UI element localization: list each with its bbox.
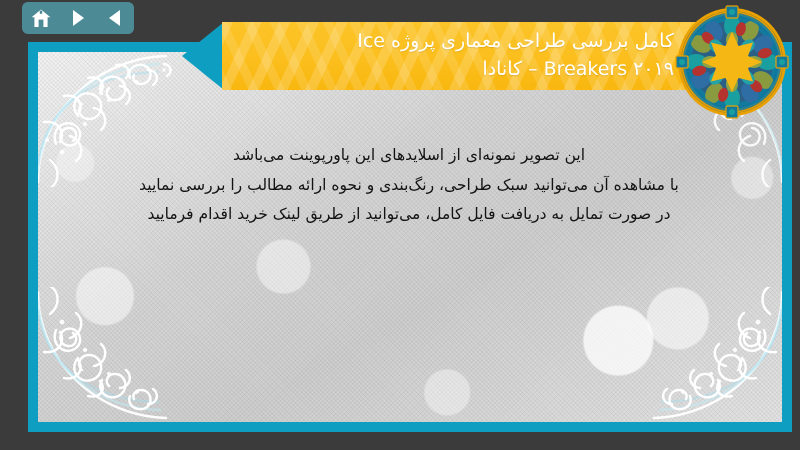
body-line-1: این تصویر نمونه‌ای از اسلایدهای این پاور… [52,148,766,164]
slide-viewer-root: این تصویر نمونه‌ای از اسلایدهای این پاور… [0,0,800,450]
right-triangle-icon [70,9,86,27]
slide-content-area: این تصویر نمونه‌ای از اسلایدهای این پاور… [38,52,782,422]
body-line-3: در صورت تمایل به دریافت فایل کامل، می‌تو… [52,207,766,223]
slide-canvas: این تصویر نمونه‌ای از اسلایدهای این پاور… [28,42,792,432]
next-slide-button[interactable] [63,5,93,31]
body-line-2: با مشاهده آن می‌توانید سبک طراحی، رنگ‌بن… [52,178,766,194]
slide-body-text: این تصویر نمونه‌ای از اسلایدهای این پاور… [52,148,766,223]
navigation-toolbar [22,2,134,34]
left-triangle-icon [107,9,123,27]
previous-slide-button[interactable] [100,5,130,31]
home-icon [31,9,51,28]
home-button[interactable] [26,5,56,31]
